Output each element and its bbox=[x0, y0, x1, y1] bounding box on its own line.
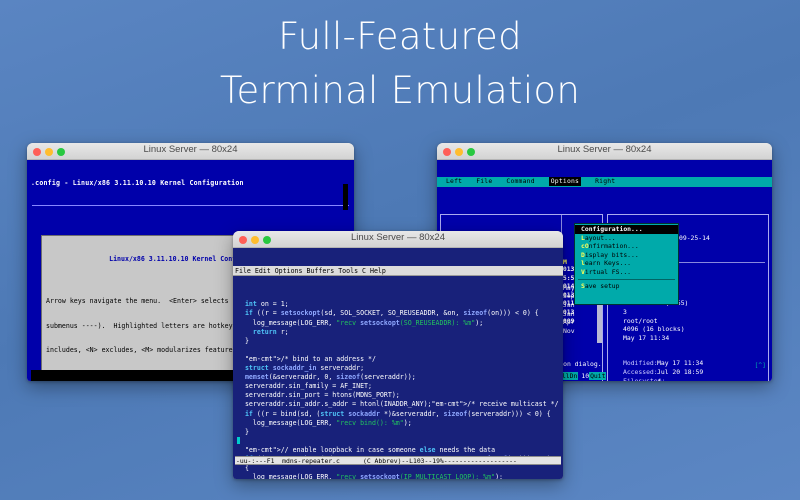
page-title: Full-Featured Terminal Emulation bbox=[0, 10, 800, 118]
emacs-modeline: -uu-:---F1 mdns-repeater.c (C Abbrev)--L… bbox=[235, 456, 561, 465]
emacs-code-buffer[interactable]: int on = 1; if ((r = setsockopt(sd, SOL_… bbox=[233, 294, 563, 479]
emacs-code-line: } bbox=[237, 428, 560, 437]
mc-menu-item-file[interactable]: File bbox=[476, 177, 492, 186]
emacs-code-line bbox=[237, 437, 560, 446]
titlebar[interactable]: Linux Server — 80x24 bbox=[27, 143, 354, 160]
mc-info-line: 3 bbox=[623, 308, 765, 317]
mc-function-key-number: 10 bbox=[581, 372, 589, 380]
mc-menu-item-label: irtual FS... bbox=[585, 268, 631, 276]
emacs-code-line bbox=[237, 346, 560, 355]
mc-options-menu-item[interactable]: Virtual FS... bbox=[575, 268, 678, 277]
mc-options-menu-item[interactable]: learn Keys... bbox=[575, 259, 678, 268]
emacs-code-line: memset(&serveraddr, 0, sizeof(serveraddr… bbox=[237, 373, 560, 382]
scrollbar[interactable] bbox=[343, 184, 348, 210]
mc-options-menu-item[interactable]: cOnfirmation... bbox=[575, 242, 678, 251]
window-title: Linux Server — 80x24 bbox=[27, 144, 354, 155]
mc-options-menu-item[interactable]: Save setup bbox=[575, 282, 678, 291]
mc-menu-item-options[interactable]: Options bbox=[549, 177, 581, 186]
emacs-code-line: if ((r = setsockopt(sd, SOL_SOCKET, SO_R… bbox=[237, 309, 560, 318]
emacs-code-line: serveraddr.sin_port = htons(MDNS_PORT); bbox=[237, 391, 560, 400]
text-cursor bbox=[237, 437, 240, 444]
mc-menu-item-label: ayout... bbox=[585, 234, 616, 242]
mc-options-dropdown-menu[interactable]: Configuration...Layout...cOnfirmation...… bbox=[574, 223, 679, 305]
emacs-code-line: struct sockaddr_in serveraddr; bbox=[237, 364, 560, 373]
titlebar[interactable]: Linux Server — 80x24 bbox=[233, 231, 563, 248]
emacs-code-line: "em-cmt">/* bind to an address */ bbox=[237, 355, 560, 364]
window-title: Linux Server — 80x24 bbox=[437, 144, 772, 155]
emacs-code-line: serveraddr.sin_addr.s_addr = htonl(INADD… bbox=[237, 400, 560, 409]
menuconfig-header: .config - Linux/x86 3.11.10.10 Kernel Co… bbox=[31, 179, 350, 187]
window-title: Linux Server — 80x24 bbox=[233, 232, 563, 243]
mc-menu-bar[interactable]: LeftFileCommandOptionsRight bbox=[437, 177, 772, 187]
mc-menu-item-label: onfiguration... bbox=[585, 225, 643, 233]
emacs-code-line: log_message(LOG_ERR, "recv setsockopt(SO… bbox=[237, 319, 560, 328]
mc-info-line: root/root bbox=[623, 317, 765, 326]
emacs-code-line: serveraddr.sin_family = AF_INET; bbox=[237, 382, 560, 391]
mc-menu-item-command[interactable]: Command bbox=[506, 177, 534, 186]
mc-function-key[interactable]: 10Quit bbox=[581, 372, 606, 381]
mc-info-line: May 17 11:34 bbox=[623, 334, 765, 343]
mc-options-menu-item[interactable]: Display bits... bbox=[575, 251, 678, 260]
mc-menu-item-label: nfirmation... bbox=[589, 242, 639, 250]
emacs-code-line: log_message(LOG_ERR, "recv bind(): %m"); bbox=[237, 419, 560, 428]
promo-screenshot: Full-Featured Terminal Emulation Linux S… bbox=[0, 0, 800, 500]
mc-menu-item-label: ave setup bbox=[585, 282, 620, 290]
mc-menu-item-label: earn Keys... bbox=[585, 259, 631, 267]
divider bbox=[32, 205, 349, 206]
emacs-code-line: "em-cmt">// enable loopback in case some… bbox=[237, 446, 560, 455]
titlebar[interactable]: Linux Server — 80x24 bbox=[437, 143, 772, 160]
emacs-code-line: return r; bbox=[237, 328, 560, 337]
mc-menu-item-right[interactable]: Right bbox=[595, 177, 615, 186]
emacs-code-line: } bbox=[237, 337, 560, 346]
emacs-code-line: int on = 1; bbox=[237, 300, 560, 309]
mc-file-date: Nov bbox=[559, 327, 599, 336]
emacs-menu-bar[interactable]: File Edit Options Buffers Tools C Help bbox=[233, 266, 563, 276]
headline-line-1: Full-Featured bbox=[0, 10, 800, 64]
mc-menu-hotkey: cO bbox=[581, 242, 589, 250]
terminal-screen[interactable]: File Edit Options Buffers Tools C Help i… bbox=[233, 248, 563, 479]
divider bbox=[578, 279, 675, 280]
mc-menu-item-left[interactable]: Left bbox=[446, 177, 462, 186]
mc-function-key-label: Quit bbox=[589, 372, 606, 380]
mc-info-line: 4096 (16 blocks) bbox=[623, 325, 765, 334]
emacs-code-line: log_message(LOG_ERR, "recv setsockopt(IP… bbox=[237, 473, 560, 479]
mc-options-menu-item[interactable]: Layout... bbox=[575, 234, 678, 243]
mc-menu-item-label: isplay bits... bbox=[585, 251, 639, 259]
terminal-window-emacs[interactable]: Linux Server — 80x24 File Edit Options B… bbox=[233, 231, 563, 479]
mc-options-menu-item[interactable]: Configuration... bbox=[575, 225, 678, 234]
headline-line-2: Terminal Emulation bbox=[0, 64, 800, 118]
emacs-code-line: if ((r = bind(sd, (struct sockaddr *)&se… bbox=[237, 410, 560, 419]
